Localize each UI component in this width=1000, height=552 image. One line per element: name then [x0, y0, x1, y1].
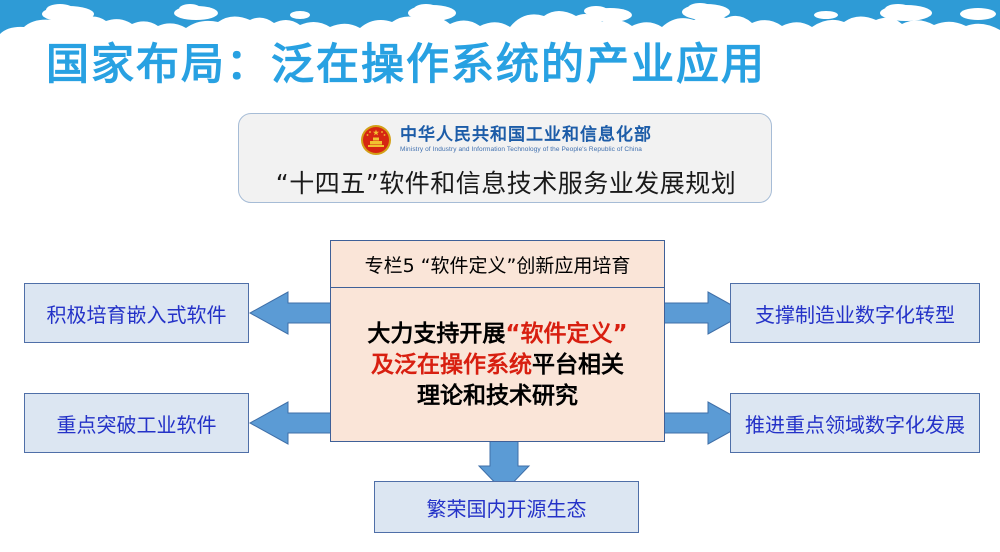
center-body-segment: 大力支持开展: [367, 321, 505, 347]
center-box-header: 专栏5 “软件定义”创新应用培育: [331, 241, 664, 288]
arrow-to-embedded: [250, 292, 336, 334]
box-key-fields-digital-development: 推进重点领域数字化发展: [730, 393, 980, 453]
center-box-body: 大力支持开展“软件定义” 及泛在操作系统平台相关 理论和技术研究: [331, 288, 664, 442]
center-policy-box: 专栏5 “软件定义”创新应用培育 大力支持开展“软件定义” 及泛在操作系统平台相…: [330, 240, 665, 442]
box-embedded-software: 积极培育嵌入式软件: [24, 283, 249, 343]
box-industrial-software: 重点突破工业软件: [24, 393, 249, 453]
center-body-line: 及泛在操作系统平台相关: [371, 350, 624, 381]
center-body-segment: 平台相关: [532, 352, 624, 378]
box-manufacturing-digital-transformation: 支撑制造业数字化转型: [730, 283, 980, 343]
center-body-segment: 理论和技术研究: [417, 383, 578, 409]
center-body-line: 理论和技术研究: [417, 381, 578, 412]
center-body-segment-highlight: 及泛在操作系统: [371, 352, 532, 378]
center-body-line: 大力支持开展“软件定义”: [367, 319, 627, 350]
box-domestic-opensource-ecosystem: 繁荣国内开源生态: [374, 481, 639, 533]
arrow-to-industrial: [250, 402, 336, 444]
center-body-segment-highlight: “软件定义”: [505, 321, 627, 347]
